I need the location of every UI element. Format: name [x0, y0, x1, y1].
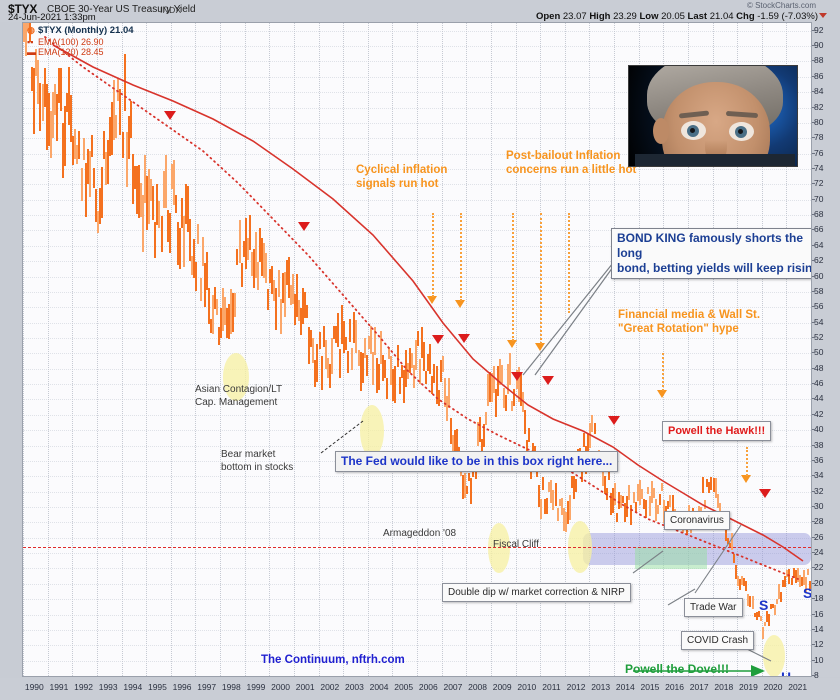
y-axis-tick-label: 56: [814, 302, 823, 310]
y-axis-tick-mark: [812, 475, 815, 476]
leader-bond-king: [523, 263, 613, 375]
y-axis-tick-mark: [812, 660, 815, 661]
y-axis-tick-mark: [812, 199, 815, 200]
leader-bear-market: [321, 421, 363, 453]
annotation-post-bailout: Post-bailout Inflation concerns run a li…: [506, 149, 636, 177]
y-axis-tick-mark: [812, 183, 815, 184]
y-axis-tick-mark: [812, 506, 815, 507]
y-axis-tick-mark: [812, 675, 815, 676]
y-axis-tick-label: 64: [814, 241, 823, 249]
annotation-powell-hawk: Powell the Hawk!!!: [662, 421, 771, 441]
y-axis-tick-label: 16: [814, 610, 823, 618]
chart-screenshot: $TYX CBOE 30-Year US Treasury Yield INDX…: [0, 0, 840, 700]
y-axis-tick-mark: [812, 168, 815, 169]
y-axis-tick-mark: [812, 107, 815, 108]
legend-label-price: $TYX (Monthly) 21.04: [38, 25, 134, 36]
y-axis-tick-label: 52: [814, 333, 823, 341]
y-axis-tick-label: 46: [814, 379, 823, 387]
y-axis-tick-label: 14: [814, 625, 823, 633]
y-axis-tick-label: 20: [814, 579, 823, 587]
y-axis-tick-label: 74: [814, 164, 823, 172]
portrait-suit: [635, 154, 795, 167]
y-axis-tick-label: 12: [814, 640, 823, 648]
high-label: High: [589, 11, 610, 22]
open-value: 23.07: [563, 11, 587, 22]
y-axis-tick-mark: [812, 521, 815, 522]
y-axis-tick-label: 68: [814, 210, 823, 218]
y-axis-tick-label: 62: [814, 256, 823, 264]
annotation-coronavirus: Coronavirus: [664, 511, 730, 530]
y-axis-tick-mark: [812, 445, 815, 446]
x-axis: 1990199119921993199419951996199719981999…: [0, 678, 840, 700]
annotation-great-rotation: Financial media & Wall St. "Great Rotati…: [618, 308, 760, 336]
bond-king-portrait: [628, 65, 798, 167]
y-axis-tick-label: 26: [814, 533, 823, 541]
y-axis-tick-mark: [812, 491, 815, 492]
y-axis-tick-mark: [812, 229, 815, 230]
y-axis-tick-label: 60: [814, 272, 823, 280]
stockcharts-copyright: © StockCharts.com: [747, 1, 816, 10]
y-axis: 9290888684828078767472706866646260585654…: [812, 22, 840, 677]
y-axis-tick-label: 36: [814, 456, 823, 464]
y-axis-tick-label: 44: [814, 394, 823, 402]
last-label: Last: [688, 11, 708, 22]
annotation-covid-crash: COVID Crash: [681, 631, 754, 650]
y-axis-tick-label: 66: [814, 225, 823, 233]
index-tag: INDX: [160, 5, 182, 15]
y-axis-tick-label: 18: [814, 594, 823, 602]
annotation-bond-king: BOND KING famously shorts the long bond,…: [611, 228, 811, 279]
annotation-powell-dove: Powell the Dove!!!: [625, 662, 729, 676]
y-axis-tick-mark: [812, 291, 815, 292]
y-axis-tick-label: 42: [814, 410, 823, 418]
quote-summary: Open 23.07 High 23.29 Low 20.05 Last 21.…: [536, 11, 818, 22]
x-axis-tick-label: 2021: [781, 682, 815, 692]
y-axis-tick-label: 70: [814, 195, 823, 203]
plot-frame: Cyclical inflation signals run hot Post-…: [22, 22, 812, 677]
portrait-pupil-right: [738, 129, 743, 134]
y-axis-tick-mark: [812, 122, 815, 123]
y-axis-tick-mark: [812, 76, 815, 77]
signal-marker-h: H: [781, 669, 791, 676]
y-axis-tick-mark: [812, 460, 815, 461]
annotation-fiscal-cliff: Fiscal Cliff: [493, 538, 539, 551]
annotation-fed-box: The Fed would like to be in this box rig…: [335, 451, 618, 472]
y-axis-tick-mark: [812, 60, 815, 61]
y-axis-tick-mark: [812, 552, 815, 553]
y-axis-tick-mark: [812, 137, 815, 138]
annotation-armageddon: Armageddon '08: [383, 527, 456, 540]
y-axis-tick-label: 78: [814, 133, 823, 141]
y-axis-tick-label: 48: [814, 364, 823, 372]
y-axis-tick-mark: [812, 414, 815, 415]
annotation-double-dip: Double dip w/ market correction & NIRP: [442, 583, 631, 602]
y-axis-tick-mark: [812, 337, 815, 338]
y-axis-tick-mark: [812, 614, 815, 615]
leader-bond-king-2: [535, 267, 613, 375]
y-axis-tick-mark: [812, 153, 815, 154]
chevron-down-icon[interactable]: [819, 13, 827, 18]
y-axis-tick-label: 30: [814, 502, 823, 510]
legend-label-ema100: EMA(100) 26.90: [38, 37, 104, 47]
legend-swatch-ema120: ▬: [27, 47, 38, 58]
leader-powell-dove-arrowhead: [751, 665, 765, 676]
y-axis-tick-mark: [812, 352, 815, 353]
y-axis-tick-label: 32: [814, 487, 823, 495]
y-axis-tick-mark: [812, 30, 815, 31]
low-label: Low: [639, 11, 658, 22]
y-axis-tick-label: 22: [814, 563, 823, 571]
y-axis-tick-label: 82: [814, 103, 823, 111]
y-axis-tick-label: 50: [814, 348, 823, 356]
low-value: 20.05: [661, 11, 685, 22]
chg-label: Chg: [736, 11, 754, 22]
y-axis-tick-label: 24: [814, 548, 823, 556]
y-axis-tick-mark: [812, 567, 815, 568]
y-axis-tick-mark: [812, 368, 815, 369]
legend-label-ema120: EMA(120) 28.45: [38, 47, 104, 57]
brand-watermark: The Continuum, nftrh.com: [261, 654, 405, 666]
y-axis-tick-mark: [812, 629, 815, 630]
y-axis-tick-label: 76: [814, 149, 823, 157]
plot-canvas[interactable]: Cyclical inflation signals run hot Post-…: [23, 23, 811, 676]
chart-header: $TYX CBOE 30-Year US Treasury Yield INDX…: [0, 0, 840, 22]
y-axis-tick-label: 10: [814, 656, 823, 664]
y-axis-tick-mark: [812, 383, 815, 384]
y-axis-tick-label: 34: [814, 471, 823, 479]
y-axis-tick-mark: [812, 322, 815, 323]
legend-swatch-ema100: ▪▪: [27, 37, 38, 48]
y-axis-tick-label: 88: [814, 56, 823, 64]
portrait-ear: [653, 118, 669, 144]
y-axis-tick-mark: [812, 45, 815, 46]
signal-marker-s2: S: [803, 585, 811, 601]
y-axis-tick-mark: [812, 583, 815, 584]
y-axis-tick-mark: [812, 598, 815, 599]
y-axis-tick-mark: [812, 245, 815, 246]
y-axis-tick-mark: [812, 91, 815, 92]
y-axis-tick-label: 92: [814, 26, 823, 34]
last-value: 21.04: [710, 11, 734, 22]
y-axis-tick-label: 38: [814, 441, 823, 449]
series-legend: ◍$TYX (Monthly) 21.04 ▪▪EMA(100) 26.90 ▬…: [27, 25, 134, 58]
y-axis-tick-label: 54: [814, 318, 823, 326]
signal-marker-s1: S: [759, 597, 768, 613]
y-axis-tick-label: 40: [814, 425, 823, 433]
leader-double-dip: [633, 551, 663, 573]
portrait-pupil-left: [690, 128, 695, 133]
y-axis-tick-label: 58: [814, 287, 823, 295]
y-axis-tick-label: 80: [814, 118, 823, 126]
annotation-cyclical-inflation: Cyclical inflation signals run hot: [356, 163, 447, 191]
y-axis-tick-label: 72: [814, 179, 823, 187]
y-axis-tick-label: 28: [814, 517, 823, 525]
chg-value: -1.59 (-7.03%): [757, 11, 818, 22]
y-axis-tick-mark: [812, 306, 815, 307]
y-axis-tick-mark: [812, 214, 815, 215]
leader-coronavirus: [695, 525, 741, 593]
annotation-bear-market: Bear market bottom in stocks: [221, 448, 293, 474]
open-label: Open: [536, 11, 560, 22]
y-axis-tick-mark: [812, 398, 815, 399]
annotation-asian-contagion: Asian Contagion/LT Cap. Management: [195, 383, 282, 409]
annotation-trade-war: Trade War: [684, 598, 743, 617]
y-axis-tick-mark: [812, 429, 815, 430]
high-value: 23.29: [613, 11, 637, 22]
y-axis-tick-mark: [812, 537, 815, 538]
y-axis-tick-mark: [812, 260, 815, 261]
legend-swatch-price: ◍: [27, 25, 38, 36]
y-axis-tick-mark: [812, 276, 815, 277]
y-axis-tick-label: 86: [814, 72, 823, 80]
y-axis-tick-label: 90: [814, 41, 823, 49]
y-axis-tick-label: 84: [814, 87, 823, 95]
y-axis-tick-mark: [812, 644, 815, 645]
